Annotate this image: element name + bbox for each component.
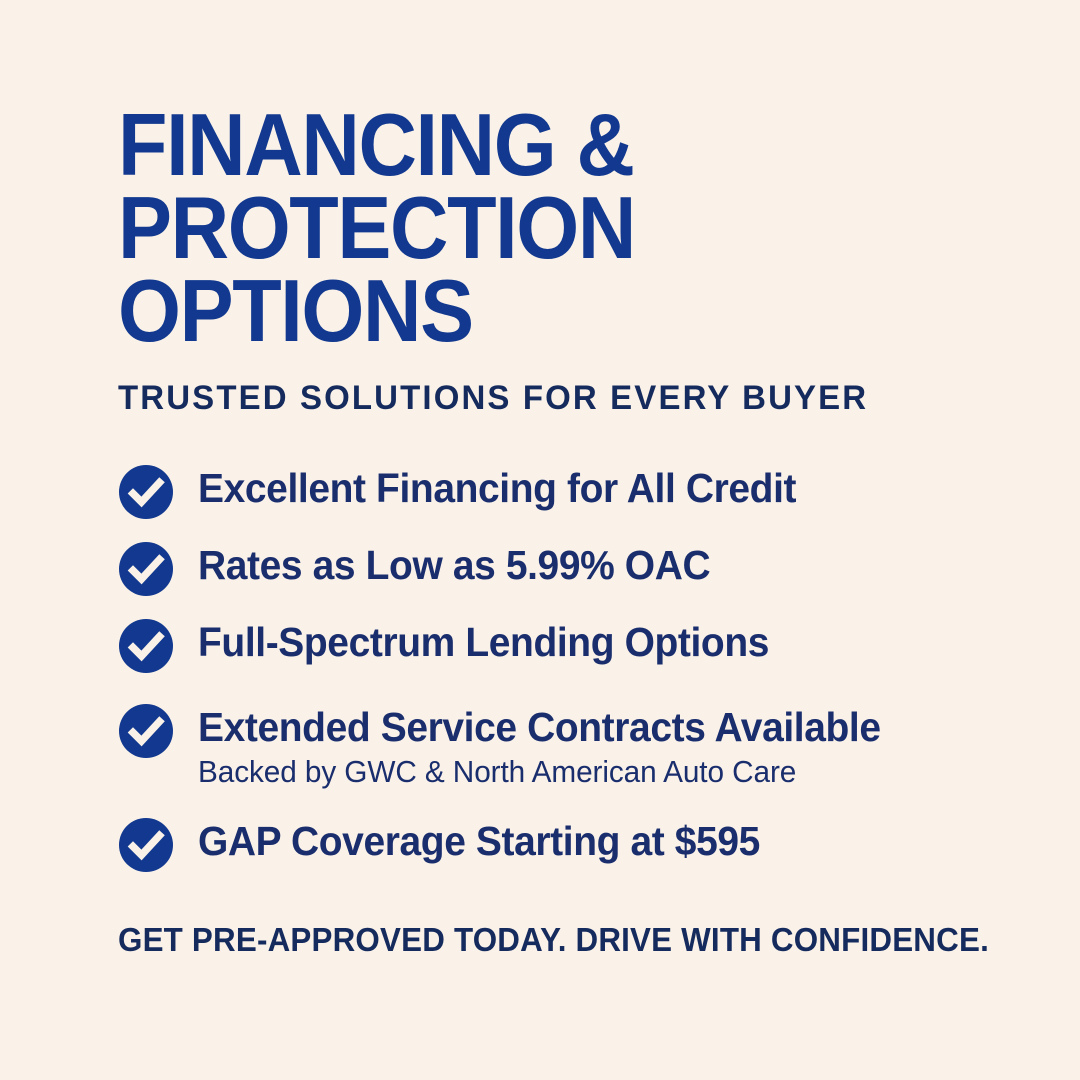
benefit-label: Extended Service Contracts Available (198, 703, 996, 751)
list-item-text: Full-Spectrum Lending Options (198, 616, 1038, 666)
check-circle-icon (118, 541, 174, 597)
benefit-label: Rates as Low as 5.99% OAC (198, 541, 996, 589)
list-item: Extended Service Contracts Available Bac… (118, 701, 1038, 791)
call-to-action-text: GET PRE-APPROVED TODAY. DRIVE WITH CONFI… (118, 921, 989, 959)
list-item: Excellent Financing for All Credit (118, 462, 1038, 518)
page-title: FINANCING & PROTECTION OPTIONS (118, 103, 1018, 352)
title-line-3: OPTIONS (118, 269, 946, 352)
benefit-label: Full-Spectrum Lending Options (198, 618, 996, 666)
check-circle-icon (118, 618, 174, 674)
benefits-list: Excellent Financing for All Credit Rates… (118, 462, 1038, 871)
list-item-text: Extended Service Contracts Available Bac… (198, 701, 1038, 791)
list-item-text: GAP Coverage Starting at $595 (198, 815, 1038, 865)
check-circle-icon (118, 703, 174, 759)
benefit-label: Excellent Financing for All Credit (198, 464, 996, 512)
list-item: Full-Spectrum Lending Options (118, 616, 1038, 672)
promo-poster: FINANCING & PROTECTION OPTIONS TRUSTED S… (0, 0, 1080, 1080)
title-line-1: FINANCING & (118, 103, 946, 186)
list-item-text: Rates as Low as 5.99% OAC (198, 539, 1038, 589)
check-circle-icon (118, 464, 174, 520)
benefit-label: GAP Coverage Starting at $595 (198, 817, 996, 865)
list-item-text: Excellent Financing for All Credit (198, 462, 1038, 512)
list-item: GAP Coverage Starting at $595 (118, 815, 1038, 871)
benefit-sublabel: Backed by GWC & North American Auto Care (198, 753, 1004, 791)
title-line-2: PROTECTION (118, 186, 946, 269)
page-subtitle: TRUSTED SOLUTIONS FOR EVERY BUYER (118, 379, 868, 418)
check-circle-icon (118, 817, 174, 873)
list-item: Rates as Low as 5.99% OAC (118, 539, 1038, 595)
